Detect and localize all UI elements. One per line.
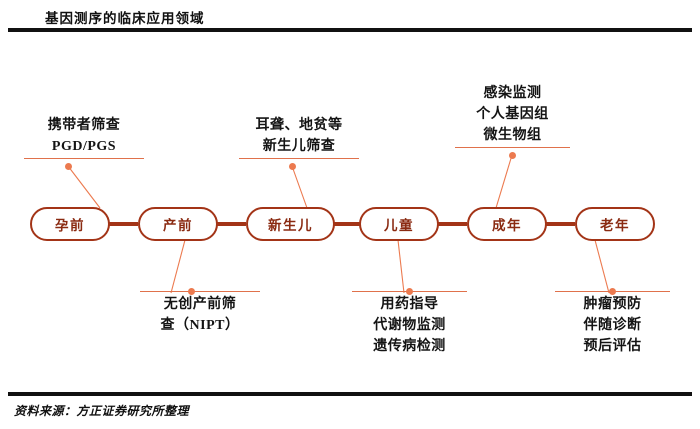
leader-line-newborn-screen <box>292 166 307 208</box>
stage-box-newborn[interactable]: 新生儿 <box>246 207 335 241</box>
callout-medication-guidance: 用药指导 代谢物监测 遗传病检测 <box>352 291 467 357</box>
callout-infection-genome: 感染监测 个人基因组 微生物组 <box>455 83 570 148</box>
callout-line: 无创产前筛 <box>140 294 260 315</box>
callout-anchor-dot <box>188 288 195 295</box>
stage-box-child[interactable]: 儿童 <box>359 207 439 241</box>
callout-newborn-screening: 耳聋、地贫等 新生儿筛查 <box>239 115 359 159</box>
stage-label: 儿童 <box>384 214 414 234</box>
stage-connector <box>437 222 467 226</box>
callout-carrier-screening: 携带者筛查 PGD/PGS <box>24 115 144 159</box>
stage-connector <box>216 222 246 226</box>
stage-label: 新生儿 <box>268 214 313 234</box>
stage-box-pregestational[interactable]: 孕前 <box>30 207 110 241</box>
callout-line: 伴随诊断 <box>555 315 670 336</box>
callout-line: 遗传病检测 <box>352 336 467 357</box>
leader-line-senior <box>595 240 609 293</box>
stage-box-adult[interactable]: 成年 <box>467 207 547 241</box>
callout-anchor-dot <box>609 288 616 295</box>
callout-line: 新生儿筛查 <box>239 136 359 157</box>
leader-line-adult <box>496 155 512 208</box>
callout-line: 个人基因组 <box>455 104 570 125</box>
callout-nipt: 无创产前筛 查（NIPT） <box>140 291 260 336</box>
callout-line: 微生物组 <box>455 125 570 146</box>
callout-underline <box>24 158 144 159</box>
callout-underline <box>239 158 359 159</box>
lifecycle-diagram: 孕前 产前 新生儿 儿童 成年 老年 携带者筛查 PGD/PGS 耳聋、地贫等 … <box>0 0 700 429</box>
leader-line-prenatal <box>171 240 185 293</box>
stage-label: 成年 <box>492 214 522 234</box>
stage-label: 产前 <box>163 214 193 234</box>
callout-line: 预后评估 <box>555 336 670 357</box>
callout-underline <box>455 147 570 148</box>
stage-label: 孕前 <box>55 214 85 234</box>
callout-line: PGD/PGS <box>24 136 144 157</box>
leader-line-child <box>398 240 404 293</box>
callout-line: 代谢物监测 <box>352 315 467 336</box>
stage-connector <box>333 222 361 226</box>
callout-line: 查（NIPT） <box>140 315 260 336</box>
callout-overline <box>140 291 260 292</box>
callout-line: 感染监测 <box>455 83 570 104</box>
callout-anchor-dot <box>406 288 413 295</box>
callout-line: 携带者筛查 <box>24 115 144 136</box>
leader-line-pregestational <box>68 166 100 208</box>
callout-tumor-prevention: 肿瘤预防 伴随诊断 预后评估 <box>555 291 670 357</box>
callout-anchor-dot <box>65 163 72 170</box>
callout-line: 耳聋、地贫等 <box>239 115 359 136</box>
footer-rule <box>8 392 692 396</box>
stage-box-senior[interactable]: 老年 <box>575 207 655 241</box>
callout-anchor-dot <box>289 163 296 170</box>
stage-connector <box>545 222 575 226</box>
callout-line: 用药指导 <box>352 294 467 315</box>
stage-connector <box>108 222 138 226</box>
callout-anchor-dot <box>509 152 516 159</box>
callout-line: 肿瘤预防 <box>555 294 670 315</box>
stage-box-prenatal[interactable]: 产前 <box>138 207 218 241</box>
stage-label: 老年 <box>600 214 630 234</box>
figure-source: 资料来源：方正证券研究所整理 <box>14 402 189 419</box>
